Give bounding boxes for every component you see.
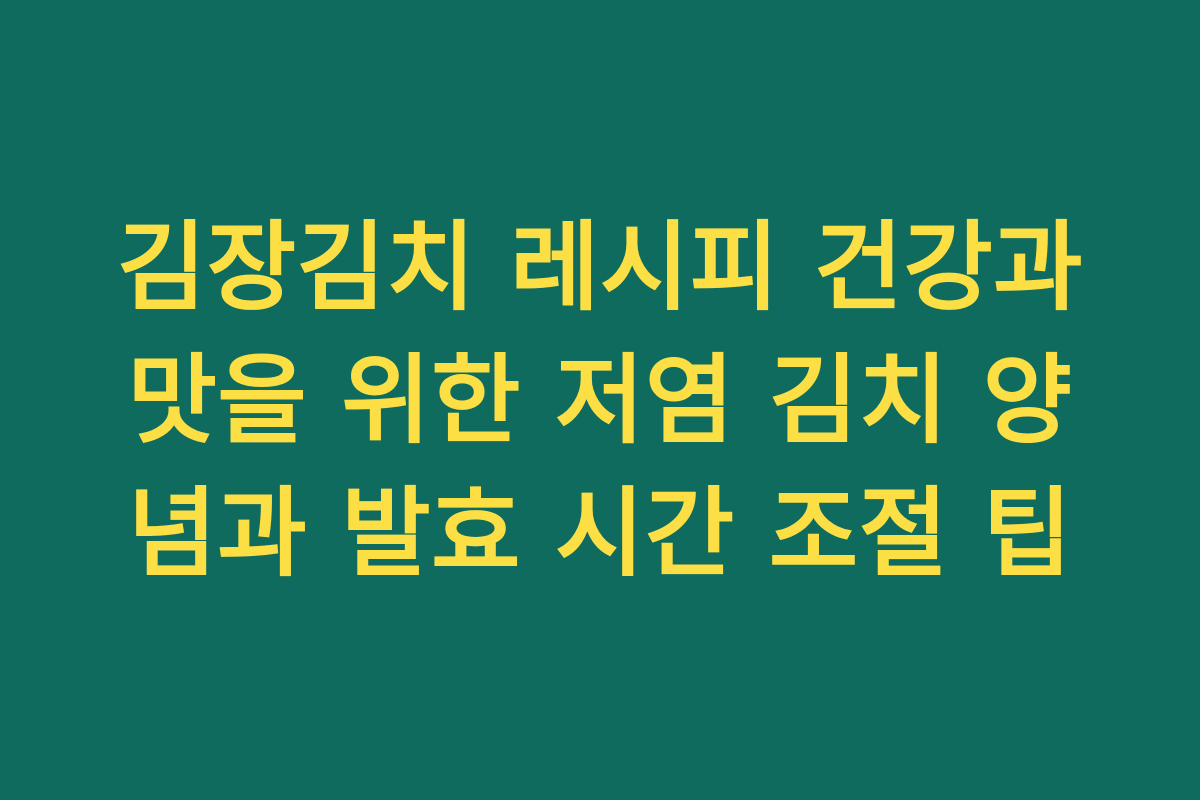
page-title: 김장김치 레시피 건강과 맛을 위한 저염 김치 양 념과 발효 시간 조절 팁 xyxy=(100,201,1100,600)
title-line-2: 맛을 위한 저염 김치 양 xyxy=(100,334,1100,467)
title-line-3: 념과 발효 시간 조절 팁 xyxy=(100,467,1100,600)
title-line-1: 김장김치 레시피 건강과 xyxy=(100,201,1100,334)
banner-canvas: 김장김치 레시피 건강과 맛을 위한 저염 김치 양 념과 발효 시간 조절 팁 xyxy=(0,0,1200,800)
